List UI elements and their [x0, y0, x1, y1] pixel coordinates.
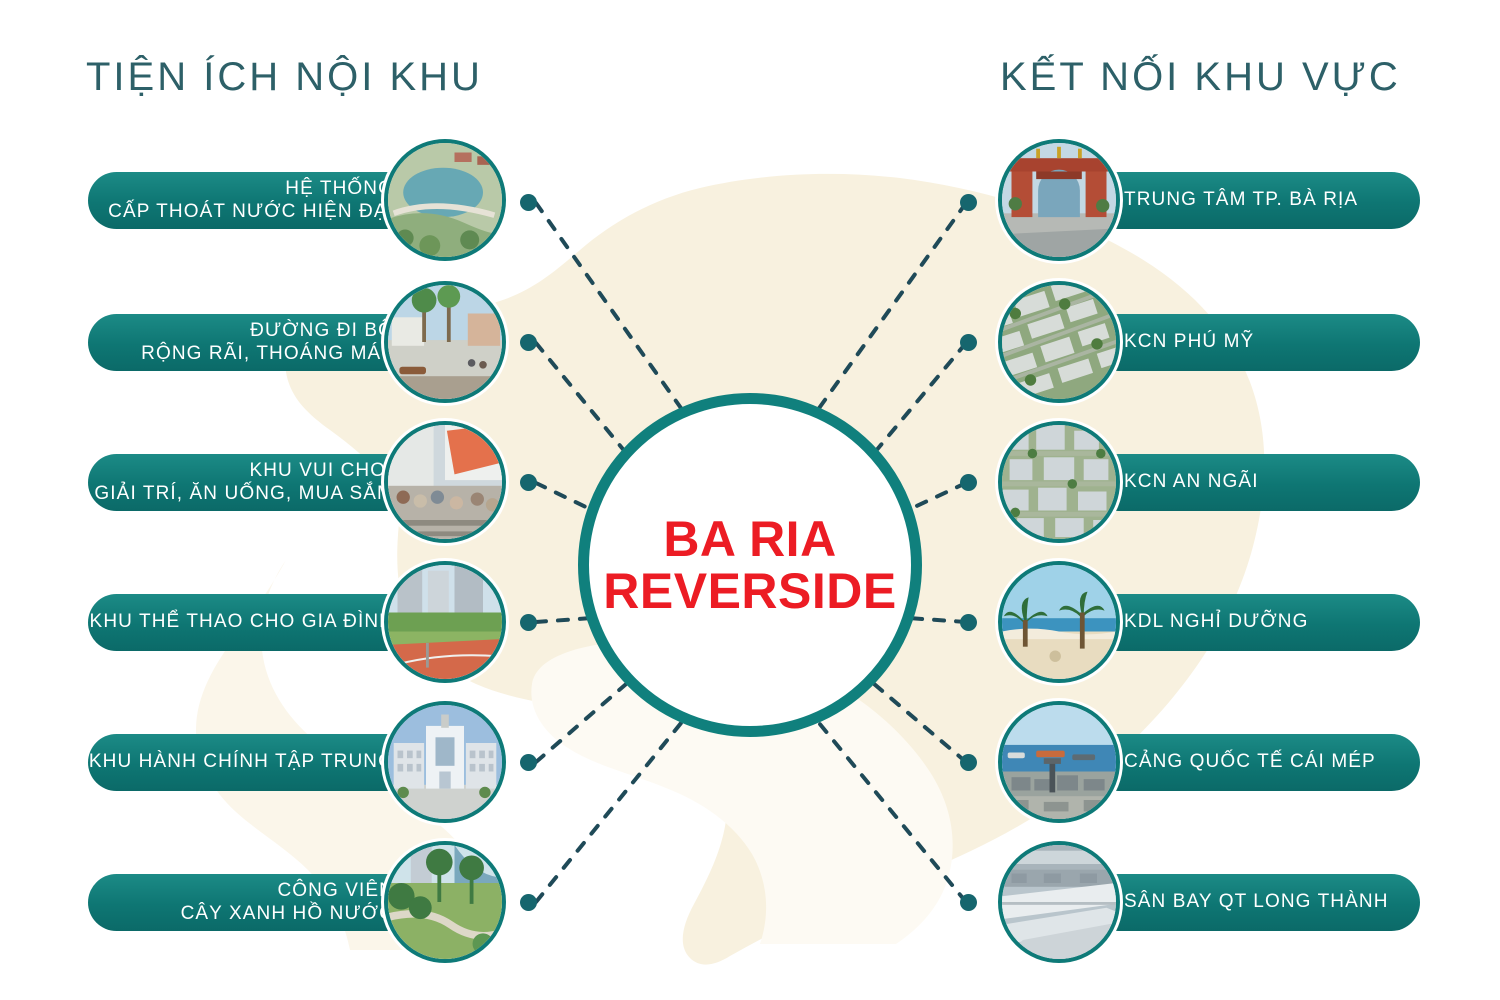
- shopping-street-photo-icon: [384, 421, 506, 543]
- city-gate-photo-icon: [998, 139, 1120, 261]
- connection-pill[interactable]: KDL NGHỈ DƯỠNG: [1090, 594, 1420, 651]
- connector-dot: [520, 194, 537, 211]
- center-hub: BA RIA REVERSIDE: [578, 393, 922, 737]
- amenity-pill[interactable]: KHU HÀNH CHÍNH TẬP TRUNG: [88, 734, 418, 791]
- connector-dot: [520, 894, 537, 911]
- connection-row[interactable]: KCN AN NGÃI: [990, 412, 1420, 552]
- amenity-pill[interactable]: KHU THỂ THAO CHO GIA ĐÌNH: [88, 594, 418, 651]
- administration-building-photo-icon: [384, 701, 506, 823]
- amenity-row[interactable]: ĐƯỜNG ĐI BỘ RỘNG RÃI, THOÁNG MÁT: [88, 272, 518, 412]
- connection-pill[interactable]: SÂN BAY QT LONG THÀNH: [1090, 874, 1420, 931]
- connection-label: TRUNG TÂM TP. BÀ RỊA: [1124, 188, 1358, 211]
- industrial-park-aerial-photo-icon: [998, 281, 1120, 403]
- section-heading-left: TIỆN ÍCH NỘI KHU: [86, 55, 483, 100]
- amenity-row[interactable]: KHU VUI CHƠI GIẢI TRÍ, ĂN UỐNG, MUA SẮM: [88, 412, 518, 552]
- connector-dot: [960, 334, 977, 351]
- connection-label: KCN AN NGÃI: [1124, 470, 1259, 493]
- connection-row[interactable]: TRUNG TÂM TP. BÀ RỊA: [990, 130, 1420, 270]
- seaport-photo-icon: [998, 701, 1120, 823]
- amenity-row[interactable]: KHU THỂ THAO CHO GIA ĐÌNH: [88, 552, 518, 692]
- amenity-pill[interactable]: CÔNG VIÊN CÂY XANH HỒ NƯỚC: [88, 874, 418, 931]
- connector-dot: [520, 754, 537, 771]
- sports-court-photo-icon: [384, 561, 506, 683]
- infographic-canvas: TIỆN ÍCH NỘI KHU KẾT NỐI KHU VỰC HỆ THỐN…: [0, 0, 1500, 1000]
- connection-pill[interactable]: KCN AN NGÃI: [1090, 454, 1420, 511]
- connector-dot: [960, 194, 977, 211]
- green-park-lake-photo-icon: [384, 841, 506, 963]
- amenity-pill[interactable]: HỆ THỐNG CẤP THOÁT NƯỚC HIỆN ĐẠI: [88, 172, 418, 229]
- connection-pill[interactable]: KCN PHÚ MỸ: [1090, 314, 1420, 371]
- connection-row[interactable]: CẢNG QUỐC TẾ CÁI MÉP: [990, 692, 1420, 832]
- urban-aerial-photo-icon: [998, 421, 1120, 543]
- amenity-label: KHU VUI CHƠI GIẢI TRÍ, ĂN UỐNG, MUA SẮM: [94, 459, 394, 505]
- connection-label: SÂN BAY QT LONG THÀNH: [1124, 890, 1389, 913]
- connector-dot: [960, 894, 977, 911]
- connector-dot: [960, 474, 977, 491]
- connector-dot: [960, 754, 977, 771]
- connector-dot: [520, 614, 537, 631]
- hub-title-line2: REVERSIDE: [603, 565, 896, 618]
- connection-row[interactable]: SÂN BAY QT LONG THÀNH: [990, 832, 1420, 972]
- amenity-row[interactable]: KHU HÀNH CHÍNH TẬP TRUNG: [88, 692, 518, 832]
- section-heading-right: KẾT NỐI KHU VỰC: [1000, 55, 1401, 100]
- connector-dot: [520, 334, 537, 351]
- hub-title-line1: BA RIA: [663, 513, 836, 566]
- connection-pill[interactable]: CẢNG QUỐC TẾ CÁI MÉP: [1090, 734, 1420, 791]
- amenity-label: KHU THỂ THAO CHO GIA ĐÌNH: [90, 610, 394, 633]
- connector-dot: [520, 474, 537, 491]
- connection-label: KCN PHÚ MỸ: [1124, 330, 1254, 353]
- amenity-label: ĐƯỜNG ĐI BỘ RỘNG RÃI, THOÁNG MÁT: [141, 319, 394, 365]
- amenity-pill[interactable]: KHU VUI CHƠI GIẢI TRÍ, ĂN UỐNG, MUA SẮM: [88, 454, 418, 511]
- connection-label: KDL NGHỈ DƯỠNG: [1124, 610, 1308, 633]
- amenity-label: KHU HÀNH CHÍNH TẬP TRUNG: [89, 750, 394, 773]
- connection-row[interactable]: KDL NGHỈ DƯỠNG: [990, 552, 1420, 692]
- connector-dot: [960, 614, 977, 631]
- amenity-label: HỆ THỐNG CẤP THOÁT NƯỚC HIỆN ĐẠI: [108, 177, 394, 223]
- lake-aerial-view-photo-icon: [384, 139, 506, 261]
- connection-pill[interactable]: TRUNG TÂM TP. BÀ RỊA: [1090, 172, 1420, 229]
- connection-row[interactable]: KCN PHÚ MỸ: [990, 272, 1420, 412]
- walking-street-photo-icon: [384, 281, 506, 403]
- airport-terminal-photo-icon: [998, 841, 1120, 963]
- amenity-pill[interactable]: ĐƯỜNG ĐI BỘ RỘNG RÃI, THOÁNG MÁT: [88, 314, 418, 371]
- amenity-row[interactable]: CÔNG VIÊN CÂY XANH HỒ NƯỚC: [88, 832, 518, 972]
- amenity-label: CÔNG VIÊN CÂY XANH HỒ NƯỚC: [181, 879, 394, 925]
- connection-label: CẢNG QUỐC TẾ CÁI MÉP: [1124, 750, 1376, 773]
- amenity-row[interactable]: HỆ THỐNG CẤP THOÁT NƯỚC HIỆN ĐẠI: [88, 130, 518, 270]
- beach-resort-photo-icon: [998, 561, 1120, 683]
